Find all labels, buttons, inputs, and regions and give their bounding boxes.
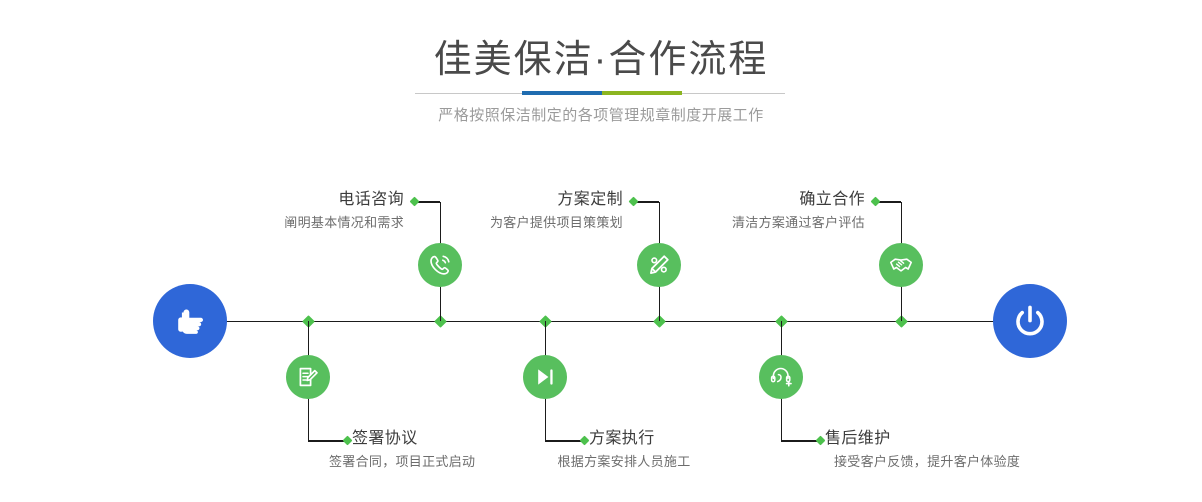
step-label-marker-3 — [628, 197, 638, 207]
step-icon-bubble-5 — [879, 243, 923, 287]
page-subtitle: 严格按照保洁制定的各项管理规章制度开展工作 — [0, 105, 1202, 127]
page-title: 佳美保洁·合作流程 — [0, 38, 1202, 82]
timeline-start-node[interactable] — [153, 284, 227, 358]
step-icon-bubble-6 — [759, 355, 803, 399]
step-label-marker-5 — [870, 197, 880, 207]
phone-call-icon — [427, 252, 453, 278]
step-title-6: 售后维护 — [825, 429, 891, 449]
step-connector-horizontal-6 — [781, 440, 817, 441]
pencil-edit-icon — [646, 252, 672, 278]
step-title-5: 确立合作 — [799, 190, 865, 210]
step-desc-5: 清洁方案通过客户评估 — [732, 214, 865, 232]
play-skip-icon — [532, 364, 558, 390]
pointing-hand-icon — [170, 301, 210, 341]
document-sign-icon — [295, 364, 321, 390]
step-title-4: 方案执行 — [589, 429, 655, 449]
power-icon — [1009, 300, 1051, 342]
step-connector-horizontal-2 — [308, 440, 344, 441]
timeline-end-node[interactable] — [993, 284, 1067, 358]
step-title-1: 电话咨询 — [338, 190, 404, 210]
step-label-marker-6 — [815, 436, 825, 446]
step-desc-6: 接受客户反馈，提升客户体验度 — [834, 453, 1020, 471]
step-icon-bubble-2 — [286, 355, 330, 399]
step-desc-1: 阐明基本情况和需求 — [284, 214, 404, 232]
flow-diagram-canvas: 佳美保洁·合作流程 严格按照保洁制定的各项管理规章制度开展工作 — [0, 0, 1202, 502]
timeline-axis — [222, 321, 1000, 322]
step-desc-2: 签署合同，项目正式启动 — [329, 453, 475, 471]
title-divider-accent-green — [602, 91, 682, 95]
step-label-marker-2 — [342, 436, 352, 446]
handshake-icon — [888, 252, 914, 278]
step-connector-horizontal-4 — [545, 440, 581, 441]
title-divider-accent-blue — [522, 91, 602, 95]
step-title-3: 方案定制 — [557, 190, 623, 210]
step-icon-bubble-4 — [523, 355, 567, 399]
step-title-2: 签署协议 — [352, 429, 418, 449]
step-icon-bubble-1 — [418, 243, 462, 287]
step-desc-3: 为客户提供项目策策划 — [490, 214, 623, 232]
step-label-marker-1 — [409, 197, 419, 207]
customer-service-add-icon — [768, 364, 794, 390]
step-desc-4: 根据方案安排人员施工 — [557, 453, 690, 471]
step-label-marker-4 — [579, 436, 589, 446]
step-icon-bubble-3 — [637, 243, 681, 287]
